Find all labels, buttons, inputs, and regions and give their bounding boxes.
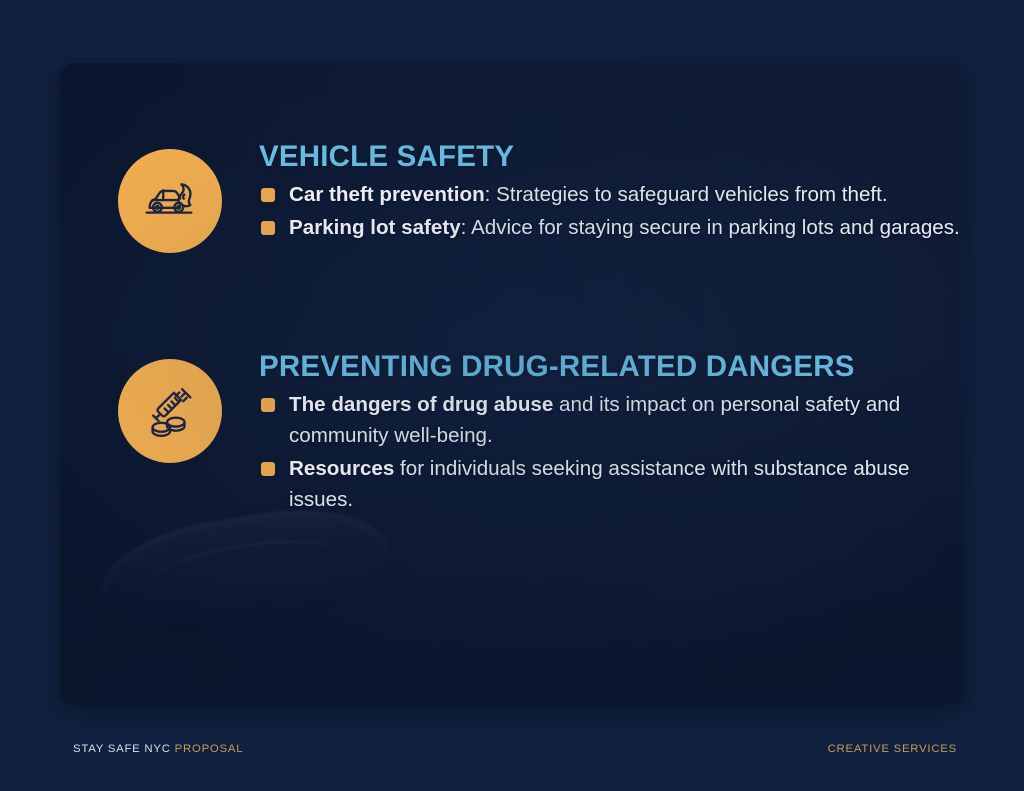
bullet-square-icon <box>261 221 275 235</box>
bullet-rest: : Strategies to safeguard vehicles from … <box>485 183 888 206</box>
footer-left: STAY SAFE NYC PROPOSAL <box>73 743 243 755</box>
section-heading: VEHICLE SAFETY <box>259 141 960 172</box>
list-item: The dangers of drug abuse and its impact… <box>259 389 963 451</box>
bullet-bold-lead: The dangers of drug abuse <box>289 393 553 416</box>
bullet-square-icon <box>261 398 275 412</box>
bullet-bold-lead: Resources <box>289 457 394 480</box>
bullet-bold-lead: Car theft prevention <box>289 183 485 206</box>
section-text-column: PREVENTING DRUG-RELATED DANGERS The dang… <box>259 351 963 517</box>
slide-footer: STAY SAFE NYC PROPOSAL CREATIVE SERVICES <box>0 705 1024 791</box>
bullet-rest: : Advice for staying secure in parking l… <box>461 216 960 239</box>
section-text-column: VEHICLE SAFETY Car theft prevention: Str… <box>259 141 960 245</box>
bullet-bold-lead: Parking lot safety <box>289 216 461 239</box>
footer-brand: STAY SAFE NYC <box>73 743 171 755</box>
section-preventing-drug-related-dangers: PREVENTING DRUG-RELATED DANGERS The dang… <box>118 351 963 517</box>
syringe-pills-icon <box>118 359 222 463</box>
list-item: Car theft prevention: Strategies to safe… <box>259 179 960 210</box>
section-vehicle-safety: VEHICLE SAFETY Car theft prevention: Str… <box>118 141 960 253</box>
bullet-square-icon <box>261 188 275 202</box>
card-content: VEHICLE SAFETY Car theft prevention: Str… <box>60 63 963 705</box>
list-item: Resources for individuals seeking assist… <box>259 453 963 515</box>
footer-right: CREATIVE SERVICES <box>828 743 957 755</box>
bullet-list: The dangers of drug abuse and its impact… <box>259 389 963 515</box>
list-item: Parking lot safety: Advice for staying s… <box>259 212 960 243</box>
slide-root: VEHICLE SAFETY Car theft prevention: Str… <box>0 0 1024 791</box>
car-crash-icon <box>118 149 222 253</box>
footer-doc-type: PROPOSAL <box>175 743 244 755</box>
content-card: VEHICLE SAFETY Car theft prevention: Str… <box>60 63 963 705</box>
bullet-list: Car theft prevention: Strategies to safe… <box>259 179 960 243</box>
section-heading: PREVENTING DRUG-RELATED DANGERS <box>259 351 963 382</box>
bullet-square-icon <box>261 462 275 476</box>
